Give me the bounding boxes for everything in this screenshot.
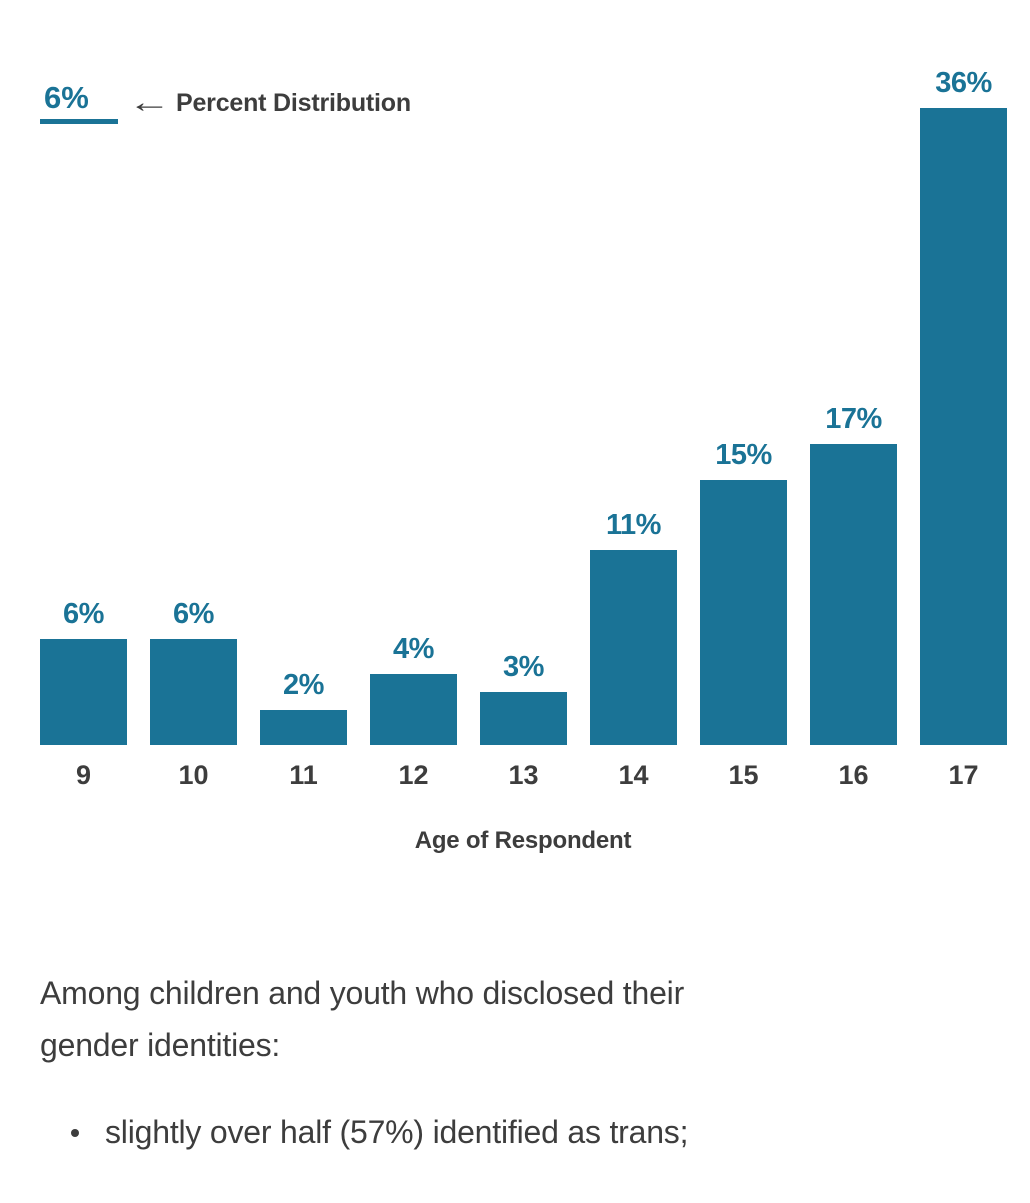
intro-paragraph: Among children and youth who disclosed t… (40, 968, 740, 1072)
bar-value-label: 6% (150, 600, 237, 629)
bar-group: 17% (810, 0, 897, 745)
list-item-text: slightly over half (57%) identified as t… (105, 1114, 688, 1150)
x-axis-tick-label: 17 (920, 762, 1007, 789)
bar-value-label: 36% (920, 69, 1007, 98)
bar-value-label: 17% (810, 405, 897, 434)
bar-value-label: 3% (480, 653, 567, 682)
bar-group: 6% (150, 0, 237, 745)
bar-group: 4% (370, 0, 457, 745)
x-axis-tick-label: 9 (40, 762, 127, 789)
bar-group: 2% (260, 0, 347, 745)
bar-group: 11% (590, 0, 677, 745)
list-item: slightly over half (57%) identified as t… (40, 1108, 990, 1158)
bar-group: 36% (920, 0, 1007, 745)
x-axis-tick-label: 12 (370, 762, 457, 789)
bar (260, 710, 347, 745)
bar (920, 108, 1007, 745)
bar-group: 15% (700, 0, 787, 745)
x-axis-tick-label: 11 (260, 762, 347, 789)
bar (150, 639, 237, 745)
bar-group: 3% (480, 0, 567, 745)
bar (810, 444, 897, 745)
x-axis-tick-label: 15 (700, 762, 787, 789)
bar (700, 480, 787, 746)
bar (40, 639, 127, 745)
bar-value-label: 15% (700, 441, 787, 470)
x-axis-tick-label: 14 (590, 762, 677, 789)
bar-group: 6% (40, 0, 127, 745)
body-copy: Among children and youth who disclosed t… (40, 968, 990, 1157)
bar (590, 550, 677, 745)
bar-value-label: 4% (370, 635, 457, 664)
bar (480, 692, 567, 745)
bar-value-label: 11% (590, 511, 677, 540)
x-axis-tick-label: 10 (150, 762, 237, 789)
bar-value-label: 2% (260, 671, 347, 700)
bar-value-label: 6% (40, 600, 127, 629)
bar (370, 674, 457, 745)
bullet-dot-icon (71, 1129, 79, 1137)
x-axis-title: Age of Respondent (40, 827, 1006, 855)
x-axis-tick-label: 13 (480, 762, 567, 789)
findings-list: slightly over half (57%) identified as t… (40, 1108, 990, 1158)
x-axis-tick-label: 16 (810, 762, 897, 789)
chart-plot-area: 6%6%2%4%3%11%15%17%36% (40, 0, 1006, 745)
bar-chart: 6%6%2%4%3%11%15%17%36% Age of Respondent… (0, 0, 1030, 810)
